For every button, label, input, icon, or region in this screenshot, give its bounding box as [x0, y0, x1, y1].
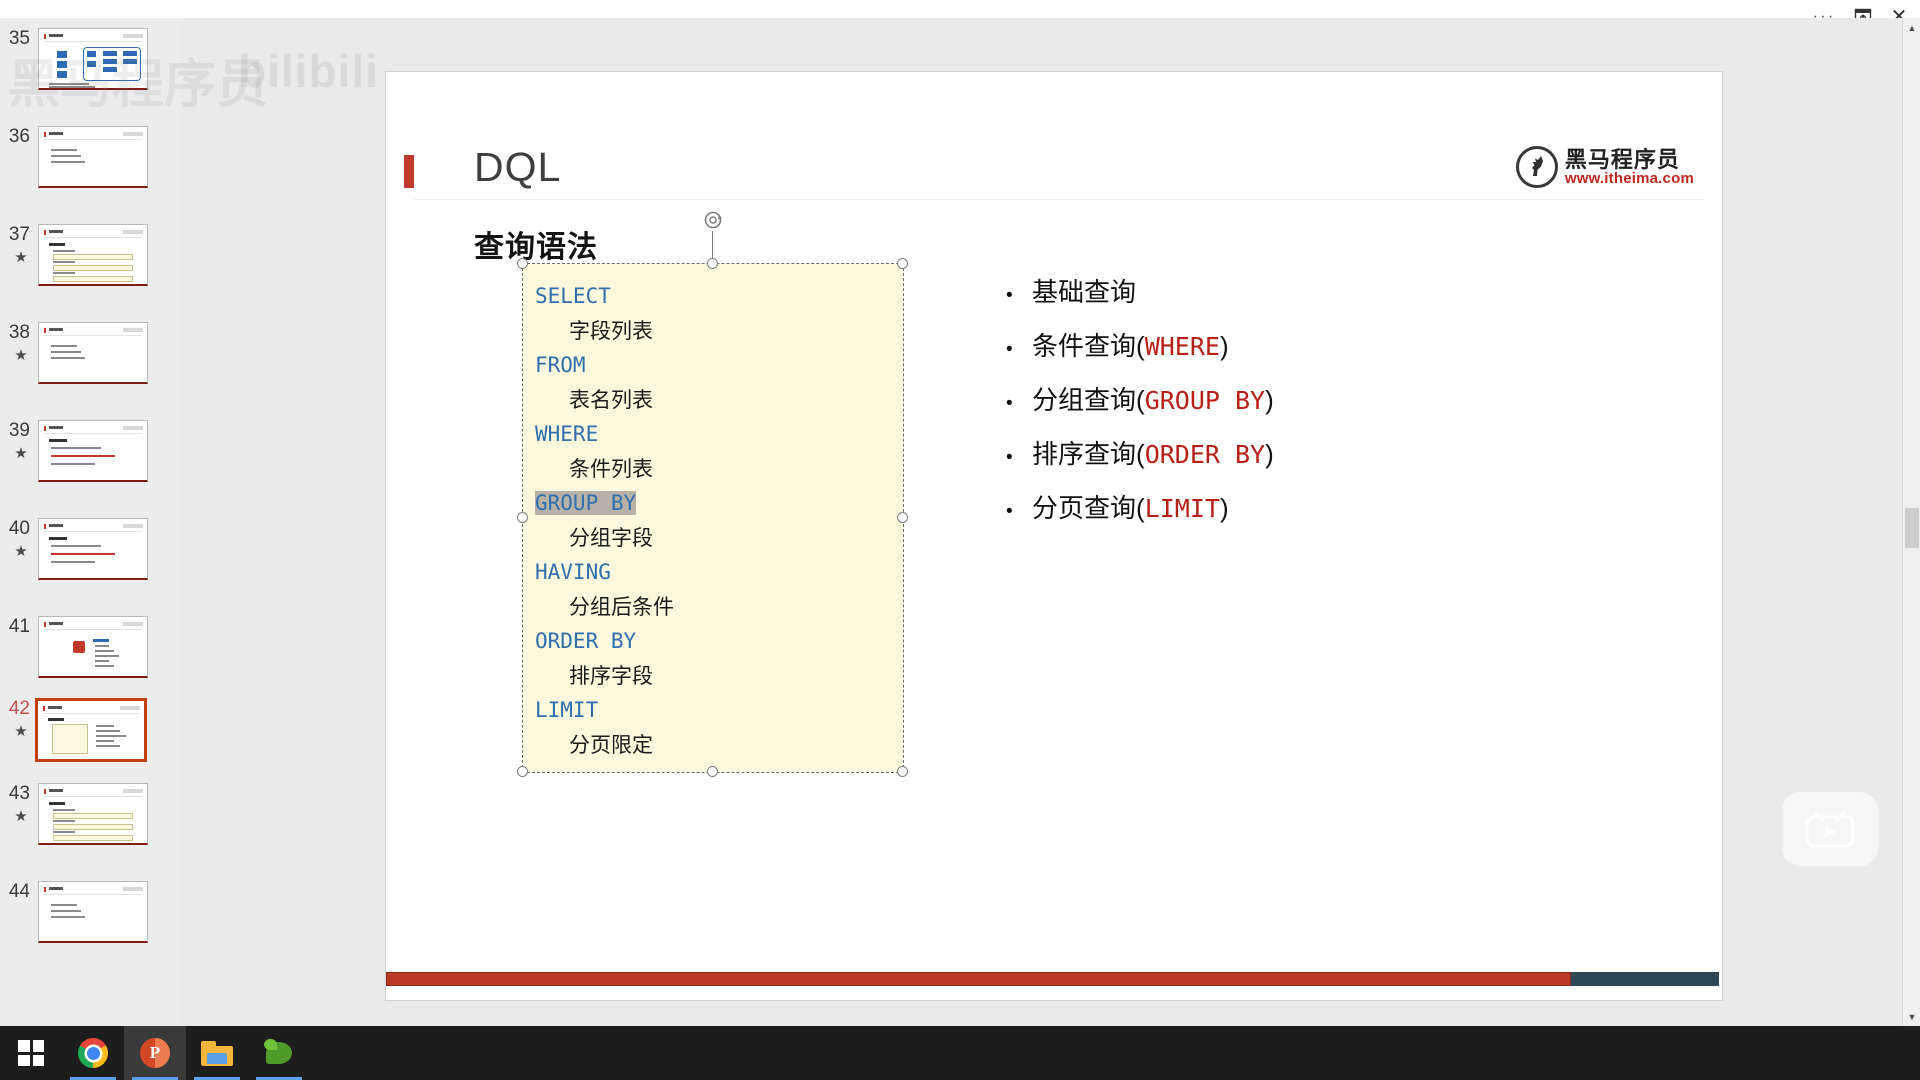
file-explorer-taskbar-item[interactable] [186, 1026, 248, 1080]
slide-thumbnail-preview[interactable] [38, 783, 148, 845]
mini-code-box [53, 265, 133, 271]
mini-title [49, 789, 63, 792]
mini-text-line [53, 831, 75, 833]
paren-close: ) [1265, 439, 1274, 470]
mini-text-line [51, 345, 77, 347]
slide-number: 37 [0, 224, 34, 246]
windows-icon [18, 1040, 44, 1066]
slide-thumbnail-preview[interactable] [38, 126, 148, 188]
sql-placeholder: 字段列表 [569, 320, 653, 343]
bullet-point-icon: • [1006, 339, 1032, 361]
slide-thumbnail-item[interactable]: 43★ [0, 783, 182, 883]
code-line: 排序字段 [569, 664, 653, 689]
mini-logo [123, 887, 143, 891]
resize-handle-top-right[interactable] [897, 258, 908, 269]
mini-logo [120, 706, 140, 710]
mini-divider [44, 796, 142, 797]
mini-text-line [95, 645, 109, 647]
animation-star-icon[interactable]: ★ [10, 807, 32, 825]
rotate-handle[interactable] [702, 209, 724, 231]
mini-title [49, 132, 63, 135]
list-item-label: 分页查询 [1032, 488, 1136, 525]
current-slide-canvas[interactable]: DQL 黑马程序员 www.itheima.com 查询语法 SELECT字段列… [386, 72, 1722, 1000]
resize-handle-middle-right[interactable] [897, 512, 908, 523]
paren-open: ( [1136, 331, 1145, 362]
resize-handle-bottom-left[interactable] [517, 766, 528, 777]
mini-text-line [53, 261, 75, 263]
sql-placeholder: 条件列表 [569, 458, 653, 481]
animation-star-icon[interactable]: ★ [10, 346, 32, 364]
code-line: 字段列表 [569, 319, 653, 344]
mini-text-line [96, 735, 126, 737]
mini-code-box [53, 835, 133, 841]
mini-text-line [51, 916, 85, 918]
slide-thumbnail-item[interactable]: 36 [0, 126, 182, 226]
slide-thumbnail-preview[interactable] [35, 698, 147, 762]
code-line: SELECT [535, 284, 611, 308]
code-textbox-selection[interactable]: SELECT字段列表FROM表名列表WHERE条件列表GROUP BY分组字段H… [523, 264, 903, 772]
powerpoint-icon: P [140, 1038, 170, 1068]
slide-number: 38 [0, 322, 34, 344]
mini-logo [123, 132, 143, 136]
sql-keyword: HAVING [535, 560, 611, 584]
sql-keyword: WHERE [535, 422, 598, 446]
navicat-icon [264, 1039, 294, 1067]
editor-scrollbar-thumb[interactable] [1905, 508, 1919, 548]
slide-number: 36 [0, 126, 34, 148]
slide-thumbnail-preview[interactable] [38, 322, 148, 384]
list-item: •排序查询(ORDER BY) [1006, 434, 1626, 471]
mini-text-line [96, 740, 114, 742]
code-line: WHERE [535, 422, 598, 446]
mini-divider [44, 531, 142, 532]
mini-title [48, 706, 62, 709]
slide-number: 44 [0, 881, 34, 903]
mini-text-line [51, 155, 81, 157]
brand-logo: 黑马程序员 www.itheima.com [1516, 146, 1694, 188]
mini-text-line [51, 357, 85, 359]
list-item-label: 基础查询 [1032, 272, 1136, 309]
mini-code-box [53, 824, 133, 830]
list-item: •分组查询(GROUP BY) [1006, 380, 1626, 417]
animation-star-icon[interactable]: ★ [10, 722, 32, 740]
mini-logo [123, 622, 143, 626]
horse-glyph [1522, 152, 1552, 182]
code-line: 条件列表 [569, 457, 653, 482]
sql-keyword: FROM [535, 353, 586, 377]
mini-title [49, 524, 63, 527]
code-line: GROUP BY [535, 491, 636, 515]
mini-text-line [95, 665, 114, 667]
horse-head-icon [1516, 146, 1558, 188]
slide-thumbnail-item[interactable]: 38★ [0, 322, 182, 422]
mini-heading [49, 537, 67, 540]
sql-placeholder: 分组后条件 [569, 596, 674, 619]
mini-badge-icon [73, 641, 85, 653]
slide-thumbnail-item[interactable]: 40★ [0, 518, 182, 618]
mini-text-line [95, 650, 114, 652]
mini-heading [49, 439, 67, 442]
brand-name: 黑马程序员 [1565, 148, 1694, 171]
mini-title [49, 622, 63, 625]
navicat-taskbar-item[interactable] [248, 1026, 310, 1080]
mini-text-line [51, 910, 81, 912]
windows-taskbar[interactable]: P [0, 1026, 1920, 1080]
mini-code-box [53, 276, 133, 282]
mini-code-box [53, 813, 133, 819]
bullet-point-icon: • [1006, 501, 1032, 523]
mini-heading [48, 718, 64, 721]
paren-open: ( [1136, 439, 1145, 470]
mini-divider [44, 629, 142, 630]
code-line: 分组字段 [569, 526, 653, 551]
bullet-point-icon: • [1006, 447, 1032, 469]
chrome-taskbar-item[interactable] [62, 1026, 124, 1080]
code-line: HAVING [535, 560, 611, 584]
mini-text-line [51, 161, 85, 163]
list-item: •分页查询(LIMIT) [1006, 488, 1626, 525]
footer-bar-primary [386, 972, 1571, 986]
list-item: •条件查询(WHERE) [1006, 326, 1626, 363]
section-heading: 查询语法 [474, 222, 598, 266]
code-line: 表名列表 [569, 388, 653, 413]
mini-accent-bar [44, 230, 46, 235]
mini-divider [44, 139, 142, 140]
paren-open: ( [1136, 385, 1145, 416]
editor-scroll-down-button[interactable]: ▼ [1903, 1007, 1920, 1026]
bullet-point-icon: • [1006, 393, 1032, 415]
brand-url: www.itheima.com [1565, 171, 1694, 187]
mini-title [49, 887, 63, 890]
sql-keyword-label: ORDER BY [1145, 440, 1265, 469]
powerpoint-window: ··· ✕ 353637★38★39★40★4142★43★44 ▲ ▼ DQL [0, 0, 1920, 1080]
slide-thumbnail-item[interactable]: 44 [0, 881, 182, 981]
sql-keyword-label: WHERE [1145, 332, 1220, 361]
mini-text-line [95, 655, 119, 657]
mini-title [49, 34, 63, 37]
mini-title [49, 426, 63, 429]
slide-thumbnail-item[interactable]: 37★ [0, 224, 182, 324]
mini-accent-bar [44, 622, 46, 627]
mini-text-line [51, 463, 95, 465]
powerpoint-taskbar-item[interactable]: P [124, 1026, 186, 1080]
mini-logo [123, 34, 143, 38]
mini-accent-bar [44, 132, 46, 137]
chrome-icon [78, 1038, 108, 1068]
title-divider [414, 199, 1704, 200]
mini-title [49, 328, 63, 331]
slide-thumbnail-preview[interactable] [38, 881, 148, 943]
list-item-label: 条件查询 [1032, 326, 1136, 363]
selected-keyword: GROUP BY [535, 491, 636, 515]
mini-heading [49, 243, 65, 246]
code-line: 分组后条件 [569, 595, 674, 620]
mini-text-line [51, 561, 95, 563]
mini-divider [44, 335, 142, 336]
list-item-label: 排序查询 [1032, 434, 1136, 471]
animation-star-icon[interactable]: ★ [10, 542, 32, 560]
editor-scroll-up-button[interactable]: ▲ [1903, 18, 1920, 37]
mini-text-line [51, 553, 115, 555]
slide-thumbnail-panel[interactable]: 353637★38★39★40★4142★43★44 [0, 18, 182, 1026]
rotate-icon [702, 209, 724, 231]
animation-star-icon[interactable]: ★ [10, 444, 32, 462]
slide-editor-area: DQL 黑马程序员 www.itheima.com 查询语法 SELECT字段列… [182, 18, 1920, 1026]
slide-thumbnail-preview[interactable] [38, 616, 148, 678]
mini-divider [43, 713, 139, 714]
slide-thumbnail-preview[interactable] [38, 518, 148, 580]
footer-bar-accent [1571, 972, 1719, 986]
mini-code-box [53, 254, 133, 260]
mini-accent-bar [44, 328, 46, 333]
mini-accent-bar [43, 706, 45, 711]
sql-placeholder: 排序字段 [569, 665, 653, 688]
sql-keyword: SELECT [535, 284, 611, 308]
bullet-point-icon: • [1006, 285, 1032, 307]
mini-text-line [51, 149, 77, 151]
sql-placeholder: 分页限定 [569, 734, 653, 757]
slide-number: 41 [0, 616, 34, 638]
slide-thumbnail-preview[interactable] [38, 420, 148, 482]
mini-accent-bar [44, 887, 46, 892]
mini-logo [123, 524, 143, 528]
list-item-label: 分组查询 [1032, 380, 1136, 417]
animation-star-icon[interactable]: ★ [10, 248, 32, 266]
code-line: 分页限定 [569, 733, 653, 758]
sql-placeholder: 表名列表 [569, 389, 653, 412]
mini-text-line [51, 545, 101, 547]
sql-keyword: ORDER BY [535, 629, 636, 653]
slide-thumbnail-item[interactable]: 39★ [0, 420, 182, 520]
mini-text-line [96, 745, 120, 747]
mini-logo [123, 426, 143, 430]
mini-text-line [53, 809, 75, 811]
paren-open: ( [1136, 493, 1145, 524]
paren-close: ) [1220, 493, 1229, 524]
mini-code-box [52, 724, 88, 754]
paren-close: ) [1265, 385, 1274, 416]
slide-number: 39 [0, 420, 34, 442]
sql-keyword-label: LIMIT [1145, 494, 1220, 523]
sql-syntax-textbox[interactable]: SELECT字段列表FROM表名列表WHERE条件列表GROUP BY分组字段H… [523, 264, 903, 772]
code-line: FROM [535, 353, 586, 377]
start-button[interactable] [0, 1026, 62, 1080]
mini-accent-bar [44, 426, 46, 431]
query-types-list: •基础查询•条件查询(WHERE)•分组查询(GROUP BY)•排序查询(OR… [1006, 272, 1626, 542]
mini-title [49, 230, 63, 233]
mini-text-line [53, 272, 75, 274]
sql-keyword-label: GROUP BY [1145, 386, 1265, 415]
slide-thumbnail-preview[interactable] [38, 224, 148, 286]
sql-keyword: LIMIT [535, 698, 598, 722]
code-line: LIMIT [535, 698, 598, 722]
mini-logo [123, 328, 143, 332]
mini-text-line [53, 250, 75, 252]
mini-divider [44, 894, 142, 895]
mini-logo [123, 230, 143, 234]
slide-number: 40 [0, 518, 34, 540]
editor-scrollbar[interactable]: ▲ ▼ [1902, 18, 1920, 1026]
bilibili-tv-icon [1804, 809, 1856, 849]
mini-text-line [96, 730, 120, 732]
code-line: ORDER BY [535, 629, 636, 653]
resize-handle-top-left[interactable] [517, 258, 528, 269]
page-title: DQL [474, 144, 561, 191]
mini-text-line [95, 660, 109, 662]
mini-accent-bar [44, 789, 46, 794]
mini-divider [44, 237, 142, 238]
resize-handle-bottom-center[interactable] [707, 766, 718, 777]
folder-icon [201, 1041, 233, 1066]
slide-footer-bar [386, 972, 1834, 986]
mini-text-line [51, 455, 115, 457]
mini-heading [49, 802, 65, 805]
bilibili-watermark-text: bilibili [238, 44, 379, 98]
slide-number: 43 [0, 783, 34, 805]
mini-text-line [51, 904, 77, 906]
resize-handle-bottom-right[interactable] [897, 766, 908, 777]
mini-logo [123, 789, 143, 793]
mini-text-line [53, 820, 75, 822]
resize-handle-top-center[interactable] [707, 258, 718, 269]
brand-logo-text: 黑马程序员 www.itheima.com [1565, 148, 1694, 187]
title-accent-bar [404, 155, 414, 188]
mini-heading [93, 639, 109, 642]
bilibili-watermark [1782, 792, 1878, 866]
mini-text-line [51, 447, 101, 449]
resize-handle-middle-left[interactable] [517, 512, 528, 523]
paren-close: ) [1220, 331, 1229, 362]
mini-divider [44, 433, 142, 434]
slide-number: 42 [0, 698, 34, 720]
mini-text-line [96, 725, 114, 727]
list-item: •基础查询 [1006, 272, 1626, 309]
mini-accent-bar [44, 34, 46, 39]
mini-text-line [51, 351, 81, 353]
brand-watermark-text: 黑马程序员 [8, 42, 268, 117]
mini-accent-bar [44, 524, 46, 529]
sql-placeholder: 分组字段 [569, 527, 653, 550]
